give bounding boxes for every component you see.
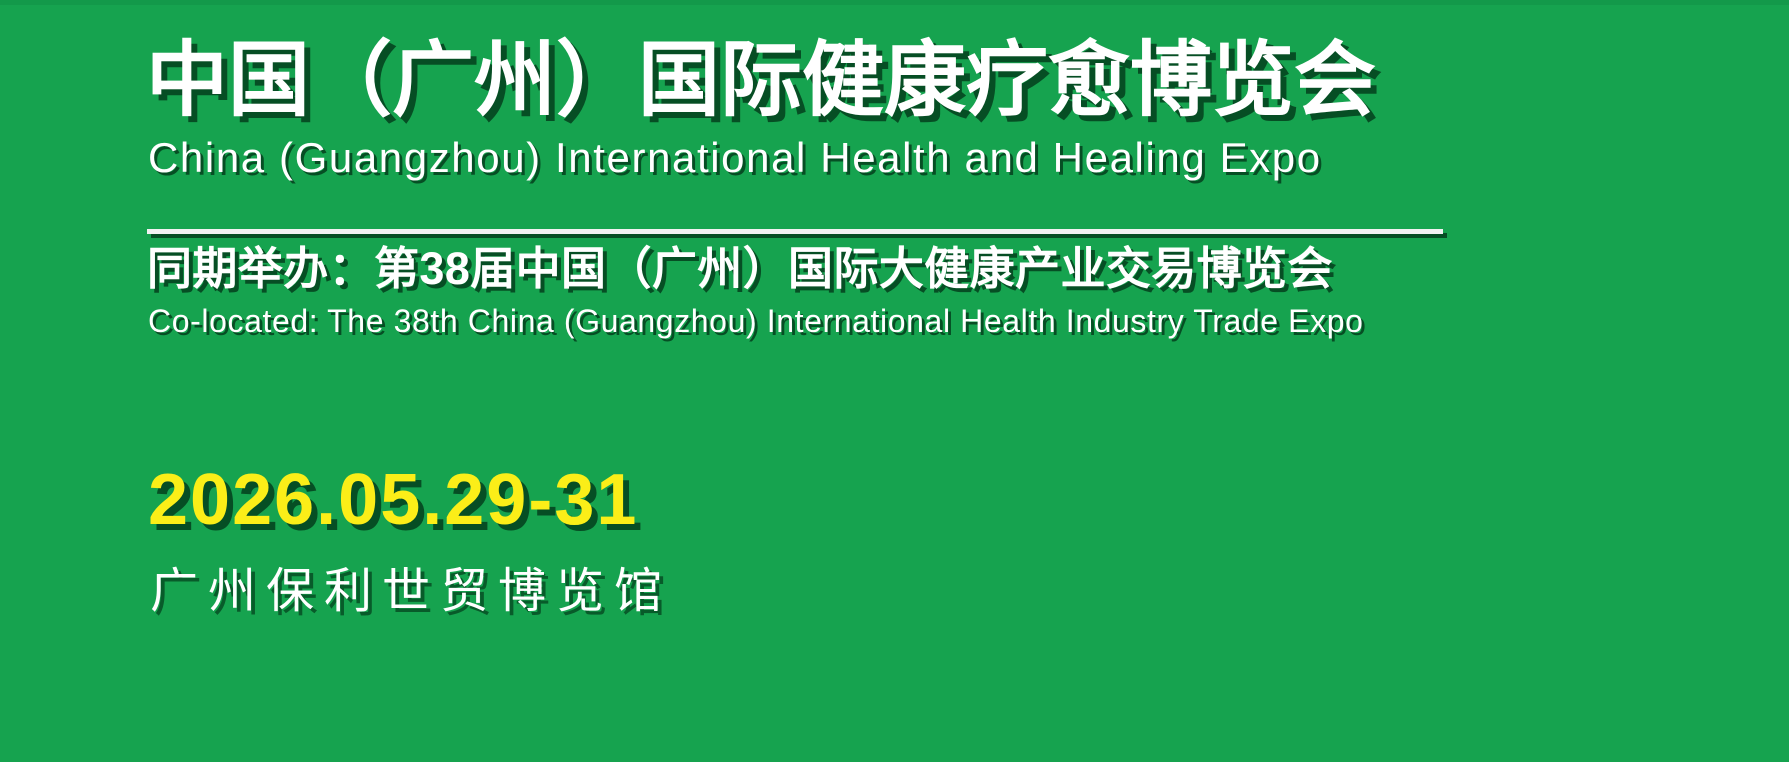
top-accent-strip xyxy=(0,0,1789,5)
expo-title-english: China (Guangzhou) International Health a… xyxy=(148,133,1322,183)
expo-banner: 中国（广州）国际健康疗愈博览会 China (Guangzhou) Intern… xyxy=(0,0,1789,762)
expo-title-chinese: 中国（广州）国际健康疗愈博览会 xyxy=(146,33,1376,129)
colocated-event-chinese: 同期举办：第38届中国（广州）国际大健康产业交易博览会 xyxy=(147,241,1333,297)
colocated-event-english: Co-located: The 38th China (Guangzhou) I… xyxy=(148,301,1364,341)
horizontal-divider xyxy=(147,229,1443,234)
event-date: 2026.05.29-31 xyxy=(148,458,638,542)
event-venue: 广州保利世贸博览馆 xyxy=(150,562,672,622)
